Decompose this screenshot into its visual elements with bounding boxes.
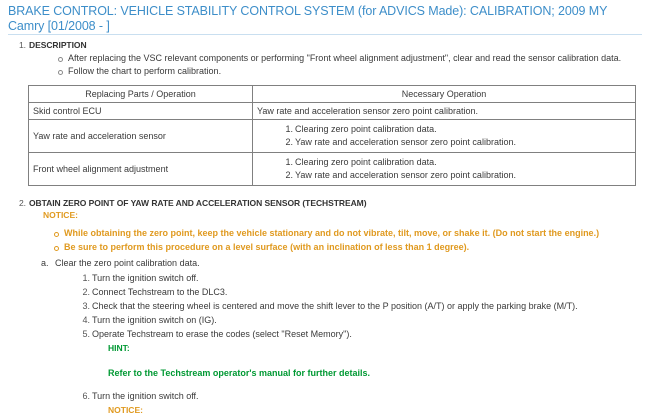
document-body: BRAKE CONTROL: VEHICLE STABILITY CONTROL…: [0, 0, 650, 414]
operation-list: Clearing zero point calibration data. Ya…: [257, 123, 631, 149]
list-item: Connect Techstream to the DLC3.: [92, 285, 650, 299]
table-cell-part: Skid control ECU: [29, 103, 253, 120]
table-cell-part: Front wheel alignment adjustment: [29, 153, 253, 186]
table-row: Front wheel alignment adjustment Clearin…: [29, 153, 636, 186]
table-cell-operation: Clearing zero point calibration data. Ya…: [253, 153, 636, 186]
list-item: After replacing the VSC relevant compone…: [58, 52, 650, 65]
hint-body: Refer to the Techstream operator's manua…: [92, 366, 650, 380]
section-2-heading: 2.OBTAIN ZERO POINT OF YAW RATE AND ACCE…: [14, 198, 650, 208]
table-row: Yaw rate and acceleration sensor Clearin…: [29, 120, 636, 153]
title-divider: [8, 34, 642, 35]
notice-label: NOTICE:: [14, 210, 650, 220]
step-5-text: Operate Techstream to erase the codes (s…: [92, 329, 352, 339]
section-1-heading: 1.DESCRIPTION: [14, 40, 650, 50]
section-1-number: 1.: [14, 40, 26, 50]
table-cell-part: Yaw rate and acceleration sensor: [29, 120, 253, 153]
list-item: Clearing zero point calibration data.: [295, 156, 631, 169]
section-1-title: DESCRIPTION: [29, 40, 87, 50]
section-2-title: OBTAIN ZERO POINT OF YAW RATE AND ACCELE…: [29, 198, 367, 208]
description-bullet-list: After replacing the VSC relevant compone…: [14, 52, 650, 77]
step-6-text: Turn the ignition switch off.: [92, 391, 199, 401]
table-header-row: Replacing Parts / Operation Necessary Op…: [29, 86, 636, 103]
step-a-text: Clear the zero point calibration data.: [55, 258, 200, 268]
list-item: Turn the ignition switch on (IG).: [92, 313, 650, 327]
list-item: Be sure to perform this procedure on a l…: [54, 240, 650, 254]
step-a-marker: a.: [41, 258, 49, 268]
notice-bullet-list: While obtaining the zero point, keep the…: [14, 226, 650, 254]
hint-label: HINT:: [92, 341, 650, 355]
table-row: Skid control ECU Yaw rate and accelerati…: [29, 103, 636, 120]
notice-label: NOTICE:: [92, 403, 650, 414]
list-item: Operate Techstream to erase the codes (s…: [92, 327, 650, 380]
list-item: Check that the steering wheel is centere…: [92, 299, 650, 313]
table-header-replacing-parts: Replacing Parts / Operation: [29, 86, 253, 103]
list-item: Follow the chart to perform calibration.: [58, 65, 650, 78]
list-item: Yaw rate and acceleration sensor zero po…: [295, 136, 631, 149]
list-item: Turn the ignition switch off.: [92, 271, 650, 285]
section-description: 1.DESCRIPTION After replacing the VSC re…: [0, 40, 650, 77]
table-cell-operation: Yaw rate and acceleration sensor zero po…: [253, 103, 636, 120]
step-a: a.Clear the zero point calibration data.: [14, 258, 650, 268]
calibration-table: Replacing Parts / Operation Necessary Op…: [28, 85, 636, 186]
numbered-step-list: Turn the ignition switch off. Connect Te…: [14, 271, 650, 414]
list-item: Clearing zero point calibration data.: [295, 123, 631, 136]
operation-list: Clearing zero point calibration data. Ya…: [257, 156, 631, 182]
list-item: Turn the ignition switch off. NOTICE:: [92, 389, 650, 414]
list-item: While obtaining the zero point, keep the…: [54, 226, 650, 240]
list-item: Yaw rate and acceleration sensor zero po…: [295, 169, 631, 182]
section-2-number: 2.: [14, 198, 26, 208]
section-obtain-zero-point: 2.OBTAIN ZERO POINT OF YAW RATE AND ACCE…: [0, 198, 650, 414]
table-header-necessary-operation: Necessary Operation: [253, 86, 636, 103]
table-cell-operation: Clearing zero point calibration data. Ya…: [253, 120, 636, 153]
page-title: BRAKE CONTROL: VEHICLE STABILITY CONTROL…: [0, 0, 650, 33]
